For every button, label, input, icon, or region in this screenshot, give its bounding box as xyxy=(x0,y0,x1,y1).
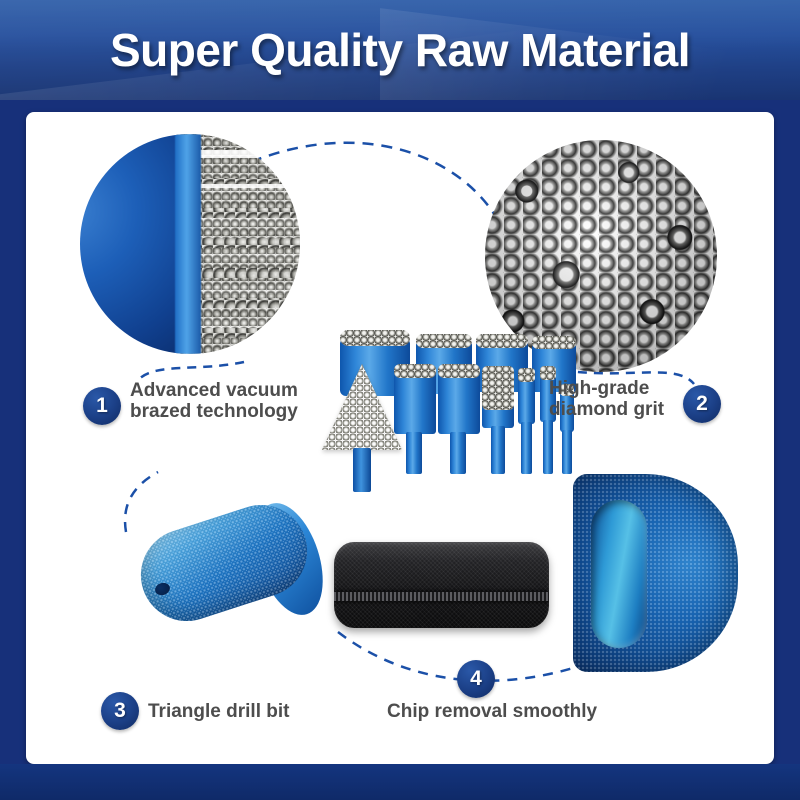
feature-caption-3: Triangle drill bit xyxy=(148,701,289,722)
feature-image-1 xyxy=(80,134,300,354)
feature-caption-1: Advanced vacuum brazed technology xyxy=(130,380,298,423)
hole-saw-large-4-crown xyxy=(532,336,576,349)
hole-saw-large-1-crown xyxy=(340,330,410,346)
feature-caption-2: High-grade diamond grit xyxy=(549,378,664,421)
case-zipper xyxy=(334,592,549,601)
feature-badge-1: 1 xyxy=(83,387,121,425)
carry-case xyxy=(334,542,549,628)
page-title: Super Quality Raw Material xyxy=(0,0,800,100)
hole-saw-mid-2-crown xyxy=(438,364,480,378)
hole-saw-large-2-crown xyxy=(416,334,472,348)
content-panel: 1 Advanced vacuum brazed technology 2 Hi… xyxy=(26,112,774,764)
hole-saw-small-1-shank xyxy=(521,422,532,474)
hole-saw-large-3-crown xyxy=(476,334,528,348)
feature-badge-4: 4 xyxy=(457,660,495,698)
hole-saw-mid-1-shank xyxy=(406,432,422,474)
feature-caption-4: Chip removal smoothly xyxy=(387,701,597,722)
hole-saw-small-1-crown xyxy=(518,368,535,382)
chip-removal-slot xyxy=(591,500,647,648)
case-texture xyxy=(334,542,549,628)
feature-image-4 xyxy=(563,460,763,690)
poster-root: Super Quality Raw Material xyxy=(0,0,800,800)
bit-blue-body xyxy=(80,134,190,354)
footer-strip xyxy=(0,764,800,800)
connector-line-1 xyxy=(138,362,244,380)
hole-saw-mid-2 xyxy=(438,372,480,434)
hole-saw-small-2-shank xyxy=(543,420,553,474)
hole-saw-mid-3-crown xyxy=(482,366,514,410)
feature-image-3 xyxy=(131,487,361,637)
cone-bit-shank xyxy=(353,448,371,492)
feature-badge-3: 3 xyxy=(101,692,139,730)
hole-saw-mid-2-shank xyxy=(450,432,466,474)
hole-saw-small-1 xyxy=(518,378,535,424)
bit-blue-rim xyxy=(175,134,201,354)
feature-badge-2: 2 xyxy=(683,385,721,423)
hole-saw-mid-3-shank xyxy=(491,426,505,474)
